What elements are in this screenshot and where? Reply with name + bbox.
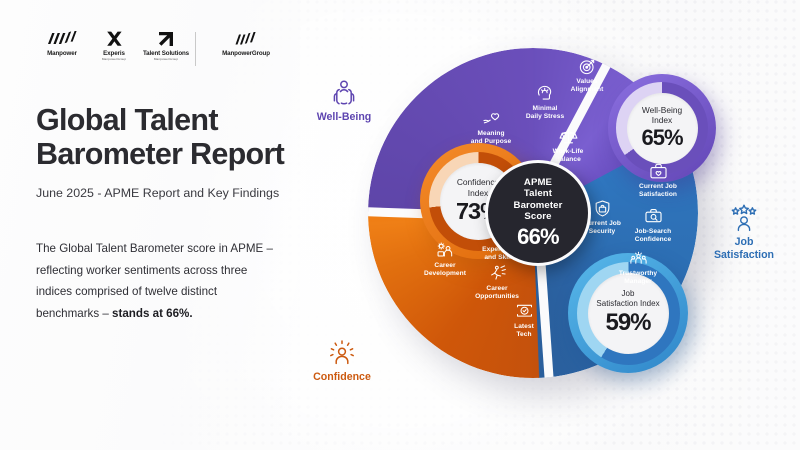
- category-legend-job-satisfaction: Job Satisfaction: [700, 203, 788, 261]
- logo-manpowergroup-label: ManpowerGroup: [222, 50, 270, 57]
- briefcase-search-icon: [616, 206, 690, 226]
- benchmark-trustworthy-manager: Trustworthy Manager: [601, 248, 675, 286]
- donut-label: Well-Being Index: [642, 105, 682, 126]
- brand-logo-row: Manpower Experis ManpowerGroup Talent So…: [36, 0, 316, 66]
- device-check-icon: [487, 301, 561, 321]
- stars-person-icon: [700, 203, 788, 233]
- page-title-line1: Global Talent: [36, 104, 316, 138]
- page-subtitle: June 2025 - APME Report and Key Findings: [36, 185, 316, 203]
- talent-barometer-wheel: Meaning and Purpose Minimal Daily Stress: [300, 18, 800, 450]
- benchmark-label: Meaning and Purpose: [454, 130, 528, 146]
- benchmark-label: Minimal Daily Stress: [508, 105, 582, 121]
- intro-highlight: stands at 66%.: [112, 307, 193, 320]
- benchmark-values-alignment: Values Alignment: [550, 56, 624, 94]
- intro-paragraph: The Global Talent Barometer score in APM…: [36, 238, 281, 324]
- page-title-line2: Barometer Report: [36, 138, 316, 172]
- target-arrow-icon: [550, 56, 624, 76]
- center-score-value: 66%: [517, 224, 559, 250]
- logo-talent-solutions: Talent Solutions ManpowerGroup: [140, 30, 192, 61]
- logo-experis-sub: ManpowerGroup: [102, 58, 126, 61]
- benchmark-career-opportunities: Career Opportunities: [460, 263, 534, 301]
- category-label: Job Satisfaction: [700, 236, 788, 261]
- logo-manpower-label: Manpower: [47, 50, 77, 57]
- benchmark-job-search-confidence: Job-Search Confidence: [616, 206, 690, 244]
- manpowergroup-bars-icon: [235, 30, 257, 47]
- benchmark-label: Trustworthy Manager: [601, 270, 675, 286]
- benchmark-latest-tech: Latest Tech: [487, 301, 561, 339]
- logo-manpower: Manpower: [36, 30, 88, 58]
- center-score-label: APMETalentBarometerScore: [514, 177, 563, 223]
- logo-divider: [195, 32, 196, 66]
- center-score-badge: APMETalentBarometerScore 66%: [485, 160, 591, 266]
- logo-talent-solutions-sub: ManpowerGroup: [154, 58, 178, 61]
- experis-x-icon: [106, 30, 123, 47]
- wheel-container: Meaning and Purpose Minimal Daily Stress: [368, 48, 698, 378]
- benchmark-work-life-balance: Work-Life Balance: [531, 126, 605, 164]
- benchmark-label: Job-Search Confidence: [616, 228, 690, 244]
- briefcase-heart-icon: [621, 161, 695, 181]
- team-people-icon: [601, 248, 675, 268]
- donut-center: Well-Being Index 65%: [627, 93, 698, 164]
- logo-experis: Experis ManpowerGroup: [88, 30, 140, 61]
- left-content-panel: Manpower Experis ManpowerGroup Talent So…: [36, 0, 316, 450]
- climbing-person-icon: [460, 263, 534, 283]
- benchmark-current-job-satisfaction: Current Job Satisfaction: [621, 161, 695, 199]
- benchmark-label: Career Opportunities: [460, 285, 534, 301]
- logo-manpowergroup: ManpowerGroup: [205, 30, 287, 58]
- benchmark-label: Current Job Satisfaction: [621, 183, 695, 199]
- talent-solutions-arrow-icon: [158, 30, 174, 47]
- scales-balance-icon: [531, 126, 605, 146]
- page-title: Global Talent Barometer Report: [36, 104, 316, 172]
- donut-value: 65%: [641, 125, 682, 151]
- donut-label: Job Satisfaction Index: [596, 289, 659, 309]
- benchmark-label: Latest Tech: [487, 323, 561, 339]
- manpower-bars-icon: [47, 30, 77, 47]
- benchmark-label: Values Alignment: [550, 78, 624, 94]
- donut-value: 59%: [605, 309, 650, 337]
